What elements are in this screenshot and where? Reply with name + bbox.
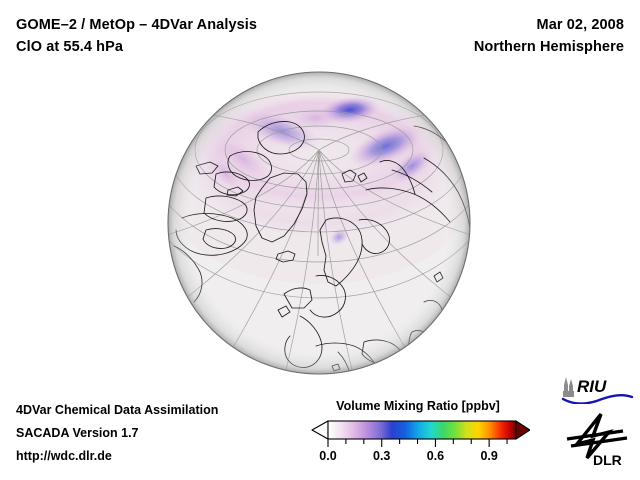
- colorbar: Volume Mixing Ratio [ppbv] 0.00.30.60.9: [306, 399, 530, 465]
- date-label: Mar 02, 2008: [324, 14, 624, 36]
- credit-url: http://wdc.dlr.de: [16, 445, 306, 468]
- colorbar-ticks: [328, 439, 507, 447]
- header-left-block: GOME–2 / MetOp – 4DVar Analysis ClO at 5…: [16, 14, 346, 58]
- globe-map: [166, 70, 472, 376]
- colorbar-tick-label: 0.9: [480, 449, 497, 463]
- colorbar-tick-labels: 0.00.30.60.9: [306, 449, 530, 465]
- credit-method: 4DVar Chemical Data Assimilation: [16, 399, 306, 422]
- colorbar-title: Volume Mixing Ratio [ppbv]: [306, 399, 530, 414]
- cathedral-spires-icon: [563, 377, 574, 397]
- header-right-block: Mar 02, 2008 Northern Hemisphere: [324, 14, 624, 58]
- colorbar-cap-high: [516, 421, 530, 439]
- credit-version: SACADA Version 1.7: [16, 422, 306, 445]
- riu-wordmark: RIU: [577, 377, 607, 396]
- colorbar-tick-label: 0.0: [319, 449, 336, 463]
- species-level-subtitle: ClO at 55.4 hPa: [16, 36, 346, 58]
- riu-logo: RIU: [558, 374, 634, 404]
- colorbar-tick-label: 0.6: [427, 449, 444, 463]
- colorbar-cap-low: [312, 421, 328, 439]
- colorbar-gradient: [328, 421, 516, 439]
- dlr-wordmark: DLR: [593, 452, 622, 468]
- colorbar-tick-label: 0.3: [373, 449, 390, 463]
- hemisphere-label: Northern Hemisphere: [324, 36, 624, 58]
- credits-block: 4DVar Chemical Data Assimilation SACADA …: [16, 399, 306, 468]
- page-title: GOME–2 / MetOp – 4DVar Analysis: [16, 14, 346, 36]
- dlr-logo: DLR: [563, 412, 635, 470]
